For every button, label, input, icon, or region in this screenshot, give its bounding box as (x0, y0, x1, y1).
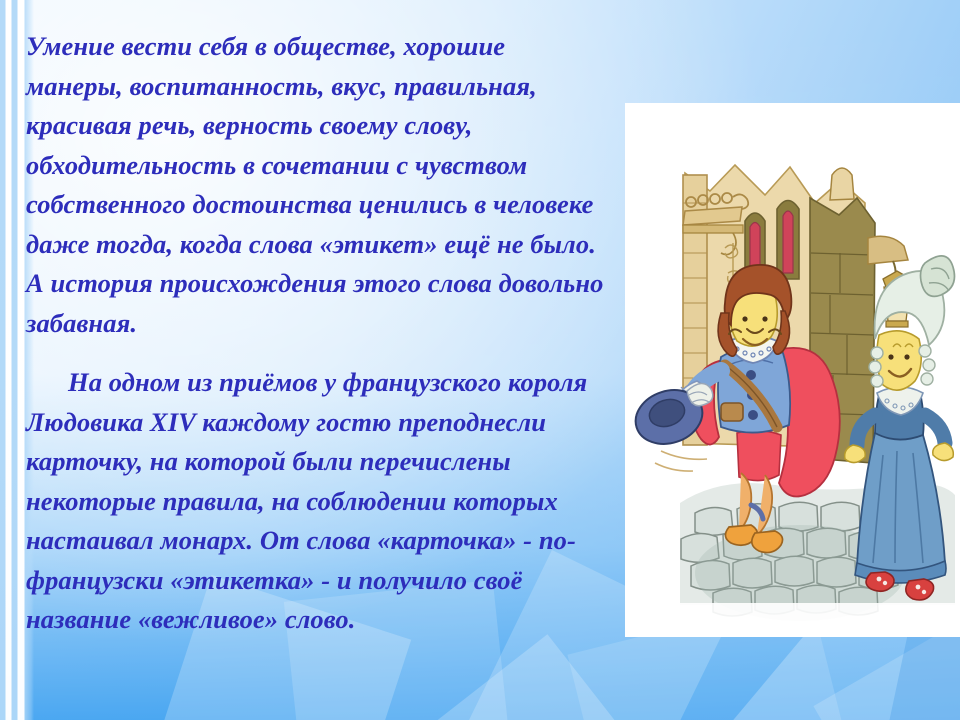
castle-bow-illustration (625, 103, 960, 637)
illustration-panel (625, 103, 960, 637)
castle-window (777, 201, 799, 280)
paragraph-etiquette-intro: Умение вести себя в обществе, хорошие ма… (26, 27, 606, 343)
text-column: Умение вести себя в обществе, хорошие ма… (26, 27, 606, 640)
paragraph-louis-xiv-story: На одном из приёмов у французского корол… (26, 363, 606, 640)
slide-canvas: Умение вести себя в обществе, хорошие ма… (0, 0, 960, 720)
